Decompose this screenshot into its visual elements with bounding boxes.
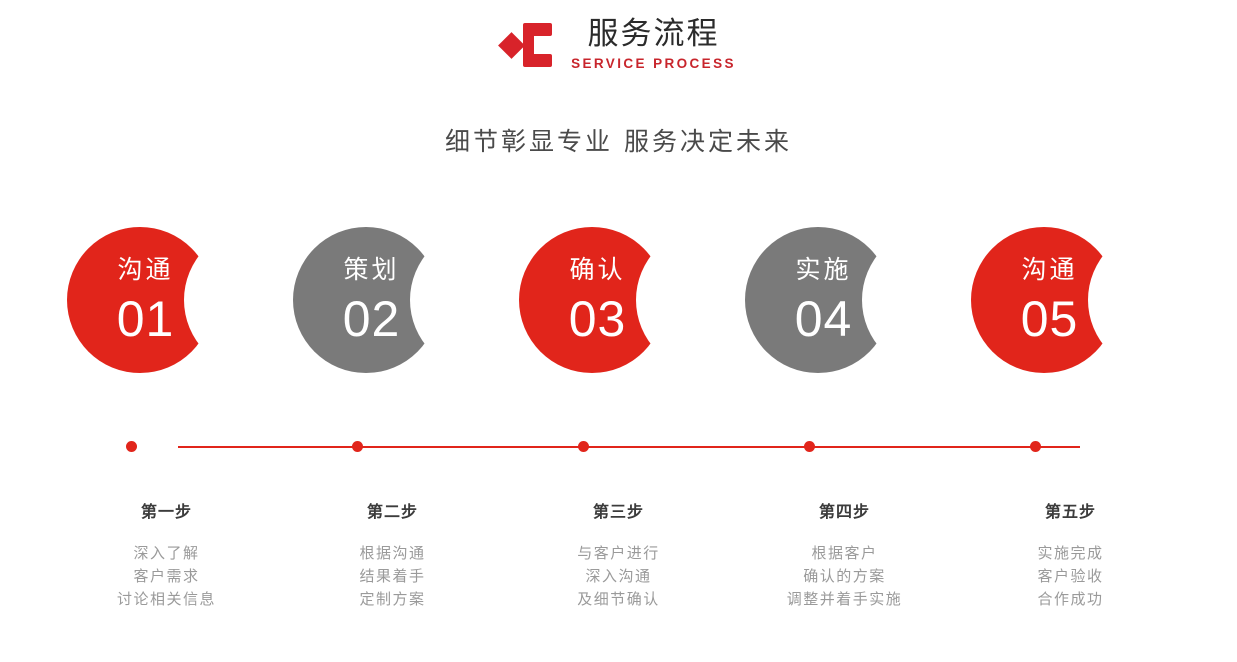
timeline-dot[interactable]	[352, 441, 363, 452]
step-caption: 第二步根据沟通结果着手定制方案	[280, 498, 506, 611]
step-badge[interactable]: 沟通05	[958, 212, 1184, 387]
step-caption-line: 客户验收	[958, 565, 1184, 588]
badge-label: 沟通	[1021, 257, 1079, 282]
step-caption-line: 与客户进行	[506, 542, 732, 565]
step-caption: 第四步根据客户确认的方案调整并着手实施	[732, 498, 958, 611]
step-caption-line: 深入沟通	[506, 565, 732, 588]
step-caption: 第三步与客户进行深入沟通及细节确认	[506, 498, 732, 611]
badge-text: 沟通05	[1021, 257, 1079, 344]
step-caption-lines: 根据客户确认的方案调整并着手实施	[732, 542, 958, 611]
step-caption-title: 第二步	[280, 498, 506, 522]
badge-label: 实施	[795, 257, 853, 282]
timeline-dot[interactable]	[126, 441, 137, 452]
page-subtitle: 细节彰显专业 服务决定未来	[0, 122, 1237, 158]
badge-label: 确认	[569, 257, 627, 282]
step-caption-line: 定制方案	[280, 588, 506, 611]
step-caption-line: 实施完成	[958, 542, 1184, 565]
step-caption-line: 根据沟通	[280, 542, 506, 565]
step-caption-line: 合作成功	[958, 588, 1184, 611]
step-caption: 第五步实施完成客户验收合作成功	[958, 498, 1184, 611]
badge-number: 05	[1021, 294, 1079, 344]
step-caption: 第一步深入了解客户需求讨论相关信息	[54, 498, 280, 611]
page-title-block: 服务流程 SERVICE PROCESS	[571, 19, 736, 71]
logo-diamond-shape	[498, 32, 525, 59]
badge-number: 01	[117, 294, 175, 344]
step-caption-lines: 根据沟通结果着手定制方案	[280, 542, 506, 611]
badge-number: 03	[569, 294, 627, 344]
step-caption-title: 第一步	[54, 498, 280, 522]
step-caption-title: 第五步	[958, 498, 1184, 522]
badge-number: 04	[795, 294, 853, 344]
step-caption-lines: 实施完成客户验收合作成功	[958, 542, 1184, 611]
badge-text: 确认03	[569, 257, 627, 344]
badge-text: 策划02	[343, 257, 401, 344]
timeline-dot[interactable]	[804, 441, 815, 452]
badge-label: 策划	[343, 257, 401, 282]
timeline-dot[interactable]	[578, 441, 589, 452]
step-caption-line: 客户需求	[54, 565, 280, 588]
service-process-infographic: { "header": { "logo_icon": "diamond-brac…	[0, 0, 1237, 662]
step-badge[interactable]: 确认03	[506, 212, 732, 387]
step-caption-line: 及细节确认	[506, 588, 732, 611]
badge-text: 实施04	[795, 257, 853, 344]
step-badge[interactable]: 实施04	[732, 212, 958, 387]
page-title: 服务流程	[587, 19, 719, 50]
logo-bracket-bottom-arm	[531, 54, 552, 67]
logo-bracket-top-arm	[531, 23, 552, 36]
step-badge-row: 沟通01策划02确认03实施04沟通05	[0, 212, 1237, 387]
timeline-line	[178, 446, 1080, 448]
step-badge[interactable]: 策划02	[280, 212, 506, 387]
logo-bracket-shape	[523, 23, 552, 67]
page-header: 服务流程 SERVICE PROCESS	[0, 0, 1237, 76]
step-caption-line: 调整并着手实施	[732, 588, 958, 611]
timeline	[0, 440, 1237, 456]
step-caption-line: 根据客户	[732, 542, 958, 565]
step-badge[interactable]: 沟通01	[54, 212, 280, 387]
page-title-english: SERVICE PROCESS	[571, 57, 736, 71]
step-caption-lines: 与客户进行深入沟通及细节确认	[506, 542, 732, 611]
diamond-bracket-logo-icon	[501, 22, 553, 68]
step-caption-title: 第三步	[506, 498, 732, 522]
step-caption-lines: 深入了解客户需求讨论相关信息	[54, 542, 280, 611]
timeline-dot[interactable]	[1030, 441, 1041, 452]
step-caption-line: 确认的方案	[732, 565, 958, 588]
badge-label: 沟通	[117, 257, 175, 282]
step-caption-title: 第四步	[732, 498, 958, 522]
step-caption-line: 结果着手	[280, 565, 506, 588]
badge-number: 02	[343, 294, 401, 344]
step-caption-row: 第一步深入了解客户需求讨论相关信息第二步根据沟通结果着手定制方案第三步与客户进行…	[0, 498, 1237, 611]
step-caption-line: 深入了解	[54, 542, 280, 565]
badge-text: 沟通01	[117, 257, 175, 344]
step-caption-line: 讨论相关信息	[54, 588, 280, 611]
